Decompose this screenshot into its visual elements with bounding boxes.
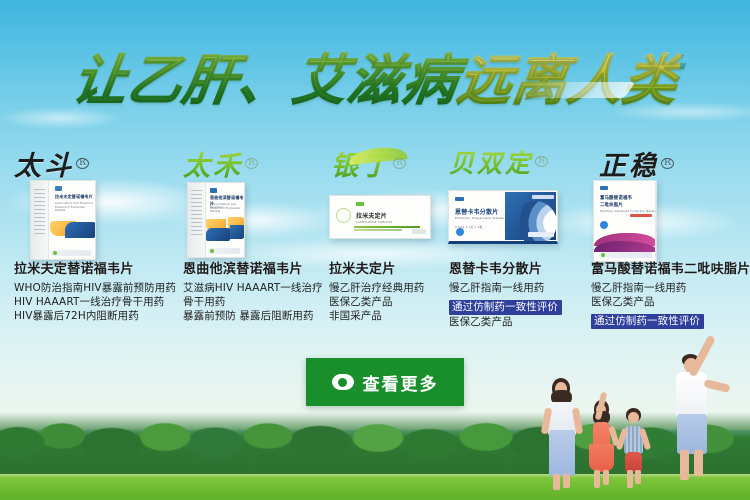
- product-caption-zhengwen: 富马酸替诺福韦二吡呋脂片 慢乙肝指南一线用药 医保乙类产品 通过仿制药一致性评价: [591, 258, 750, 329]
- view-more-button[interactable]: 查看更多: [306, 358, 464, 406]
- box-side-panel: [31, 181, 49, 259]
- product-feature: 慢乙肝治疗经典用药: [329, 281, 424, 295]
- registered-mark-icon: R: [76, 158, 89, 169]
- product-feature: 非国采产品: [329, 309, 424, 323]
- brand-name: 正稳: [599, 151, 659, 182]
- product-image-taidou: 拉米夫定替诺福韦片 Lamivudine and Tenofovir Disop…: [30, 180, 96, 260]
- product-card-beishuangding[interactable]: 贝双定R 恩替卡韦分散片 Entecavir Dispersible Table…: [445, 140, 585, 340]
- registered-mark-icon: R: [245, 158, 258, 169]
- product-feature: 暴露前预防 暴露后阻断用药: [183, 309, 323, 323]
- figure-woman: [540, 378, 584, 488]
- brand-logo-beishuangding: 贝双定R: [449, 144, 548, 184]
- promo-banner: 让乙肝、艾滋病远离人类 太斗R 拉米夫定替诺福韦片 Lamivudine and…: [0, 0, 750, 500]
- brand-name: 太斗: [14, 151, 74, 182]
- product-feature: 艾滋病HIV HAAART一线治疗: [183, 281, 323, 295]
- product-feature: 慢乙肝指南一线用药: [449, 281, 562, 295]
- product-name: 富马酸替诺福韦二吡呋脂片: [591, 258, 750, 277]
- certification-badge: 通过仿制药一致性评价: [449, 300, 562, 315]
- product-image-beishuangding: 恩替卡韦分散片 Entecavir Dispersible Tablets 0.…: [448, 190, 558, 244]
- brand-logo-taihe: 太禾R: [183, 144, 258, 184]
- box-top-panel: [655, 181, 657, 261]
- product-caption-beishuangding: 恩替卡韦分散片 慢乙肝指南一线用药 通过仿制药一致性评价 医保乙类产品: [449, 258, 562, 329]
- product-feature: HIV暴露后72H内阻断用药: [14, 309, 176, 323]
- product-feature: 医保乙类产品: [449, 315, 562, 329]
- product-card-taidou[interactable]: 太斗R 拉米夫定替诺福韦片 Lamivudine and Tenofovir D…: [0, 140, 175, 340]
- view-more-label: 查看更多: [363, 370, 439, 395]
- product-image-yinding: 拉米夫定片 LAMIVUDINE TABLETS: [329, 195, 431, 239]
- product-feature: 医保乙类产品: [591, 295, 750, 309]
- product-feature: HIV HAAART一线治疗骨干用药: [14, 295, 176, 309]
- product-card-zhengwen[interactable]: 正稳R 富马酸替诺福韦 二吡呋脂片 Tenofovir Disoproxil F…: [585, 140, 750, 340]
- product-feature: 慢乙肝指南一线用药: [591, 281, 750, 295]
- eye-icon: [332, 374, 354, 390]
- product-image-zhengwen: 富马酸替诺福韦 二吡呋脂片 Tenofovir Disoproxil Fumar…: [593, 180, 657, 262]
- product-caption-yinding: 拉米夫定片 慢乙肝治疗经典用药 医保乙类产品 非国采产品: [329, 258, 424, 323]
- figure-boy: [616, 408, 650, 488]
- brand-name: 太禾: [183, 151, 243, 182]
- product-name: 拉米夫定片: [329, 258, 424, 277]
- registered-mark-icon: R: [393, 158, 406, 169]
- box-side-panel: [188, 183, 206, 257]
- product-name: 恩替卡韦分散片: [449, 258, 562, 277]
- product-caption-taihe: 恩曲他滨替诺福韦片 艾滋病HIV HAAART一线治疗 骨干用药 暴露前预防 暴…: [183, 258, 323, 323]
- product-list: 太斗R 拉米夫定替诺福韦片 Lamivudine and Tenofovir D…: [0, 140, 750, 340]
- product-caption-taidou: 拉米夫定替诺福韦片 WHO防治指南HIV暴露前预防用药 HIV HAAART一线…: [14, 258, 176, 323]
- brand-logo-yinding: 银丁R: [331, 144, 406, 184]
- product-feature: 骨干用药: [183, 295, 323, 309]
- brand-name: 贝双定: [449, 149, 533, 178]
- brand-logo-taidou: 太斗R: [14, 144, 89, 184]
- figure-girl: [584, 400, 618, 488]
- product-name: 恩曲他滨替诺福韦片: [183, 258, 323, 277]
- product-card-yinding[interactable]: 银丁R 拉米夫定片 LAMIVUDINE TABLETS 拉米夫定片 慢乙肝治疗…: [325, 140, 445, 340]
- product-feature: WHO防治指南HIV暴露前预防用药: [14, 281, 176, 295]
- figure-man: [658, 346, 730, 490]
- product-name: 拉米夫定替诺福韦片: [14, 258, 176, 277]
- registered-mark-icon: R: [535, 156, 548, 167]
- product-image-taihe: 恩曲他滨替诺福韦片 Emtricitabine and Tenofovir Di…: [187, 182, 245, 258]
- product-card-taihe[interactable]: 太禾R 恩曲他滨替诺福韦片 Emtricitabine and Tenofovi…: [175, 140, 325, 340]
- family-photo: [540, 330, 750, 485]
- product-feature: 医保乙类产品: [329, 295, 424, 309]
- brand-logo-zhengwen: 正稳R: [599, 144, 674, 184]
- registered-mark-icon: R: [661, 158, 674, 169]
- certification-badge: 通过仿制药一致性评价: [591, 314, 704, 329]
